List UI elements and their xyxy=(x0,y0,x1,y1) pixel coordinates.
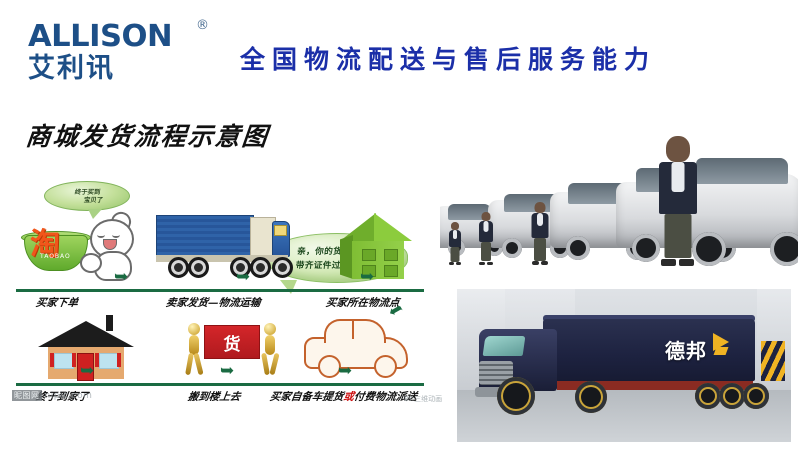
green-house-window xyxy=(362,249,376,261)
porter-leg xyxy=(269,353,279,376)
truck-wheel xyxy=(168,257,189,278)
car-window-divider xyxy=(352,321,354,339)
baby-eye-right xyxy=(112,232,120,238)
porter-leg xyxy=(193,353,203,376)
car-roof xyxy=(324,319,386,343)
staff-legs xyxy=(451,247,460,262)
staff-shoe xyxy=(456,262,461,265)
porter-leg xyxy=(185,353,194,376)
staff-head xyxy=(666,136,690,162)
caption-move-upstairs: 搬到楼上去 xyxy=(187,389,242,404)
truck-trailer xyxy=(156,215,254,257)
truck-wheel xyxy=(695,383,721,409)
shipping-flow-diagram: 商城发货流程示意图 终于买到 宝贝了 亲，你的货物到了， 带齐证件过来提货吧 xyxy=(8,105,448,425)
baby-arm xyxy=(80,253,102,273)
car-wheel xyxy=(374,355,397,378)
staff-shoe xyxy=(679,259,694,266)
staff-shoe xyxy=(449,262,454,265)
green-house-window xyxy=(384,265,398,277)
flow-arrow-icon: ➥ xyxy=(220,363,234,380)
cargo-box-char: 货 xyxy=(205,326,259,358)
truck-wheel xyxy=(743,383,769,409)
staff-head xyxy=(534,202,545,213)
sketch-car-icon xyxy=(300,317,410,383)
basket-shape: 淘 TAOBAO xyxy=(24,227,86,269)
caption-buyer-order: 买家下单 xyxy=(35,295,79,310)
blue-truck-icon xyxy=(156,209,288,285)
staff-head xyxy=(482,212,491,221)
porter-torso xyxy=(189,335,199,355)
porter-head xyxy=(188,323,200,335)
staff-legs xyxy=(534,238,546,261)
truck-wheel xyxy=(272,257,293,278)
shopping-basket-icon: 淘 TAOBAO xyxy=(24,201,154,285)
diagram-heading: 商城发货流程示意图 xyxy=(24,117,271,153)
fleet-vehicle-glass xyxy=(696,158,788,184)
taobao-sub: TAOBAO xyxy=(40,253,71,260)
staff-legs xyxy=(481,242,491,261)
divider-row1 xyxy=(16,289,424,292)
staff-shoe xyxy=(487,262,493,265)
watermark-credit: BY:三维动画 xyxy=(404,394,442,404)
flow-arrow-icon: ➥ xyxy=(114,269,128,286)
fleet-vehicle-wheel xyxy=(566,236,590,260)
flow-arrow-icon: ➥ xyxy=(80,363,94,380)
house-shutter xyxy=(50,353,54,367)
house-window xyxy=(99,353,119,369)
caption-pickup-or-delivery: 买家自备车提货或付费物流派送 xyxy=(269,389,418,404)
truck-wheel xyxy=(188,257,209,278)
baby-eye-left xyxy=(97,232,105,238)
staff-collar xyxy=(672,162,685,192)
house-shutter xyxy=(72,353,76,367)
porter-head xyxy=(264,323,276,335)
truck-cab-window xyxy=(274,225,287,236)
staff-head xyxy=(451,222,459,230)
service-fleet-photo xyxy=(440,110,798,270)
fleet-vehicle-wheel xyxy=(632,234,660,262)
staff-member xyxy=(530,202,549,264)
caption-seller-ship: 卖家发货—物流运输 xyxy=(165,295,262,310)
divider-row2 xyxy=(16,383,424,386)
staff-legs xyxy=(665,214,692,258)
staff-member xyxy=(478,212,494,264)
logo-wordmark: ALLISON xyxy=(28,22,222,52)
staff-shoe xyxy=(532,261,539,265)
staff-member xyxy=(448,222,462,264)
company-logo: ALLISON ® 艾利讯 xyxy=(28,22,218,88)
porter-leg xyxy=(261,353,270,376)
green-house-icon xyxy=(338,203,424,285)
staff-shoe xyxy=(541,261,548,265)
staff-member-front xyxy=(658,136,698,264)
porter-figure xyxy=(258,323,284,377)
staff-shoe xyxy=(479,262,485,265)
truck-wheel xyxy=(575,381,607,413)
mini-bubble-line1: 终于买到 xyxy=(74,188,101,196)
page-title: 全国物流配送与售后服务能力 xyxy=(240,40,770,76)
staff-collar xyxy=(484,221,489,232)
hazard-stripes xyxy=(761,341,785,381)
flow-arrow-icon: ➥ xyxy=(338,363,352,380)
slide-canvas: ALLISON ® 艾利讯 全国物流配送与售后服务能力 商城发货流程示意图 终于… xyxy=(0,0,800,450)
porter-torso xyxy=(265,335,275,355)
logo-chinese-name: 艾利讯 xyxy=(28,55,218,82)
house-roof xyxy=(38,321,134,347)
cargo-box: 货 xyxy=(204,325,260,359)
house-shutter xyxy=(117,353,121,367)
truck-wheel xyxy=(250,257,271,278)
registered-trademark-icon: ® xyxy=(196,18,209,33)
staff-collar xyxy=(537,213,543,226)
deppon-brand-text: 德邦 xyxy=(665,335,707,364)
house-shutter xyxy=(95,353,99,367)
fleet-vehicle-wheel xyxy=(502,238,522,258)
caption-pickup-pre: 买家自备车提货 xyxy=(269,391,344,403)
green-house-window xyxy=(384,249,398,261)
truck-wheel xyxy=(719,383,745,409)
caption-arrived-home: 终于到家了 xyxy=(35,389,90,404)
deppon-truck-photo: 德邦 xyxy=(457,289,791,442)
house-window xyxy=(54,353,74,369)
flow-arrow-icon: ➥ xyxy=(236,269,250,286)
truck-wheel xyxy=(497,377,535,415)
staff-collar xyxy=(453,230,457,239)
staff-shoe xyxy=(661,259,676,266)
truck-windshield xyxy=(483,336,526,356)
green-roof-right xyxy=(374,213,412,241)
flow-arrow-icon: ➥ xyxy=(360,269,374,286)
fleet-vehicle-wheel xyxy=(770,232,798,266)
green-roof-left xyxy=(340,213,376,241)
